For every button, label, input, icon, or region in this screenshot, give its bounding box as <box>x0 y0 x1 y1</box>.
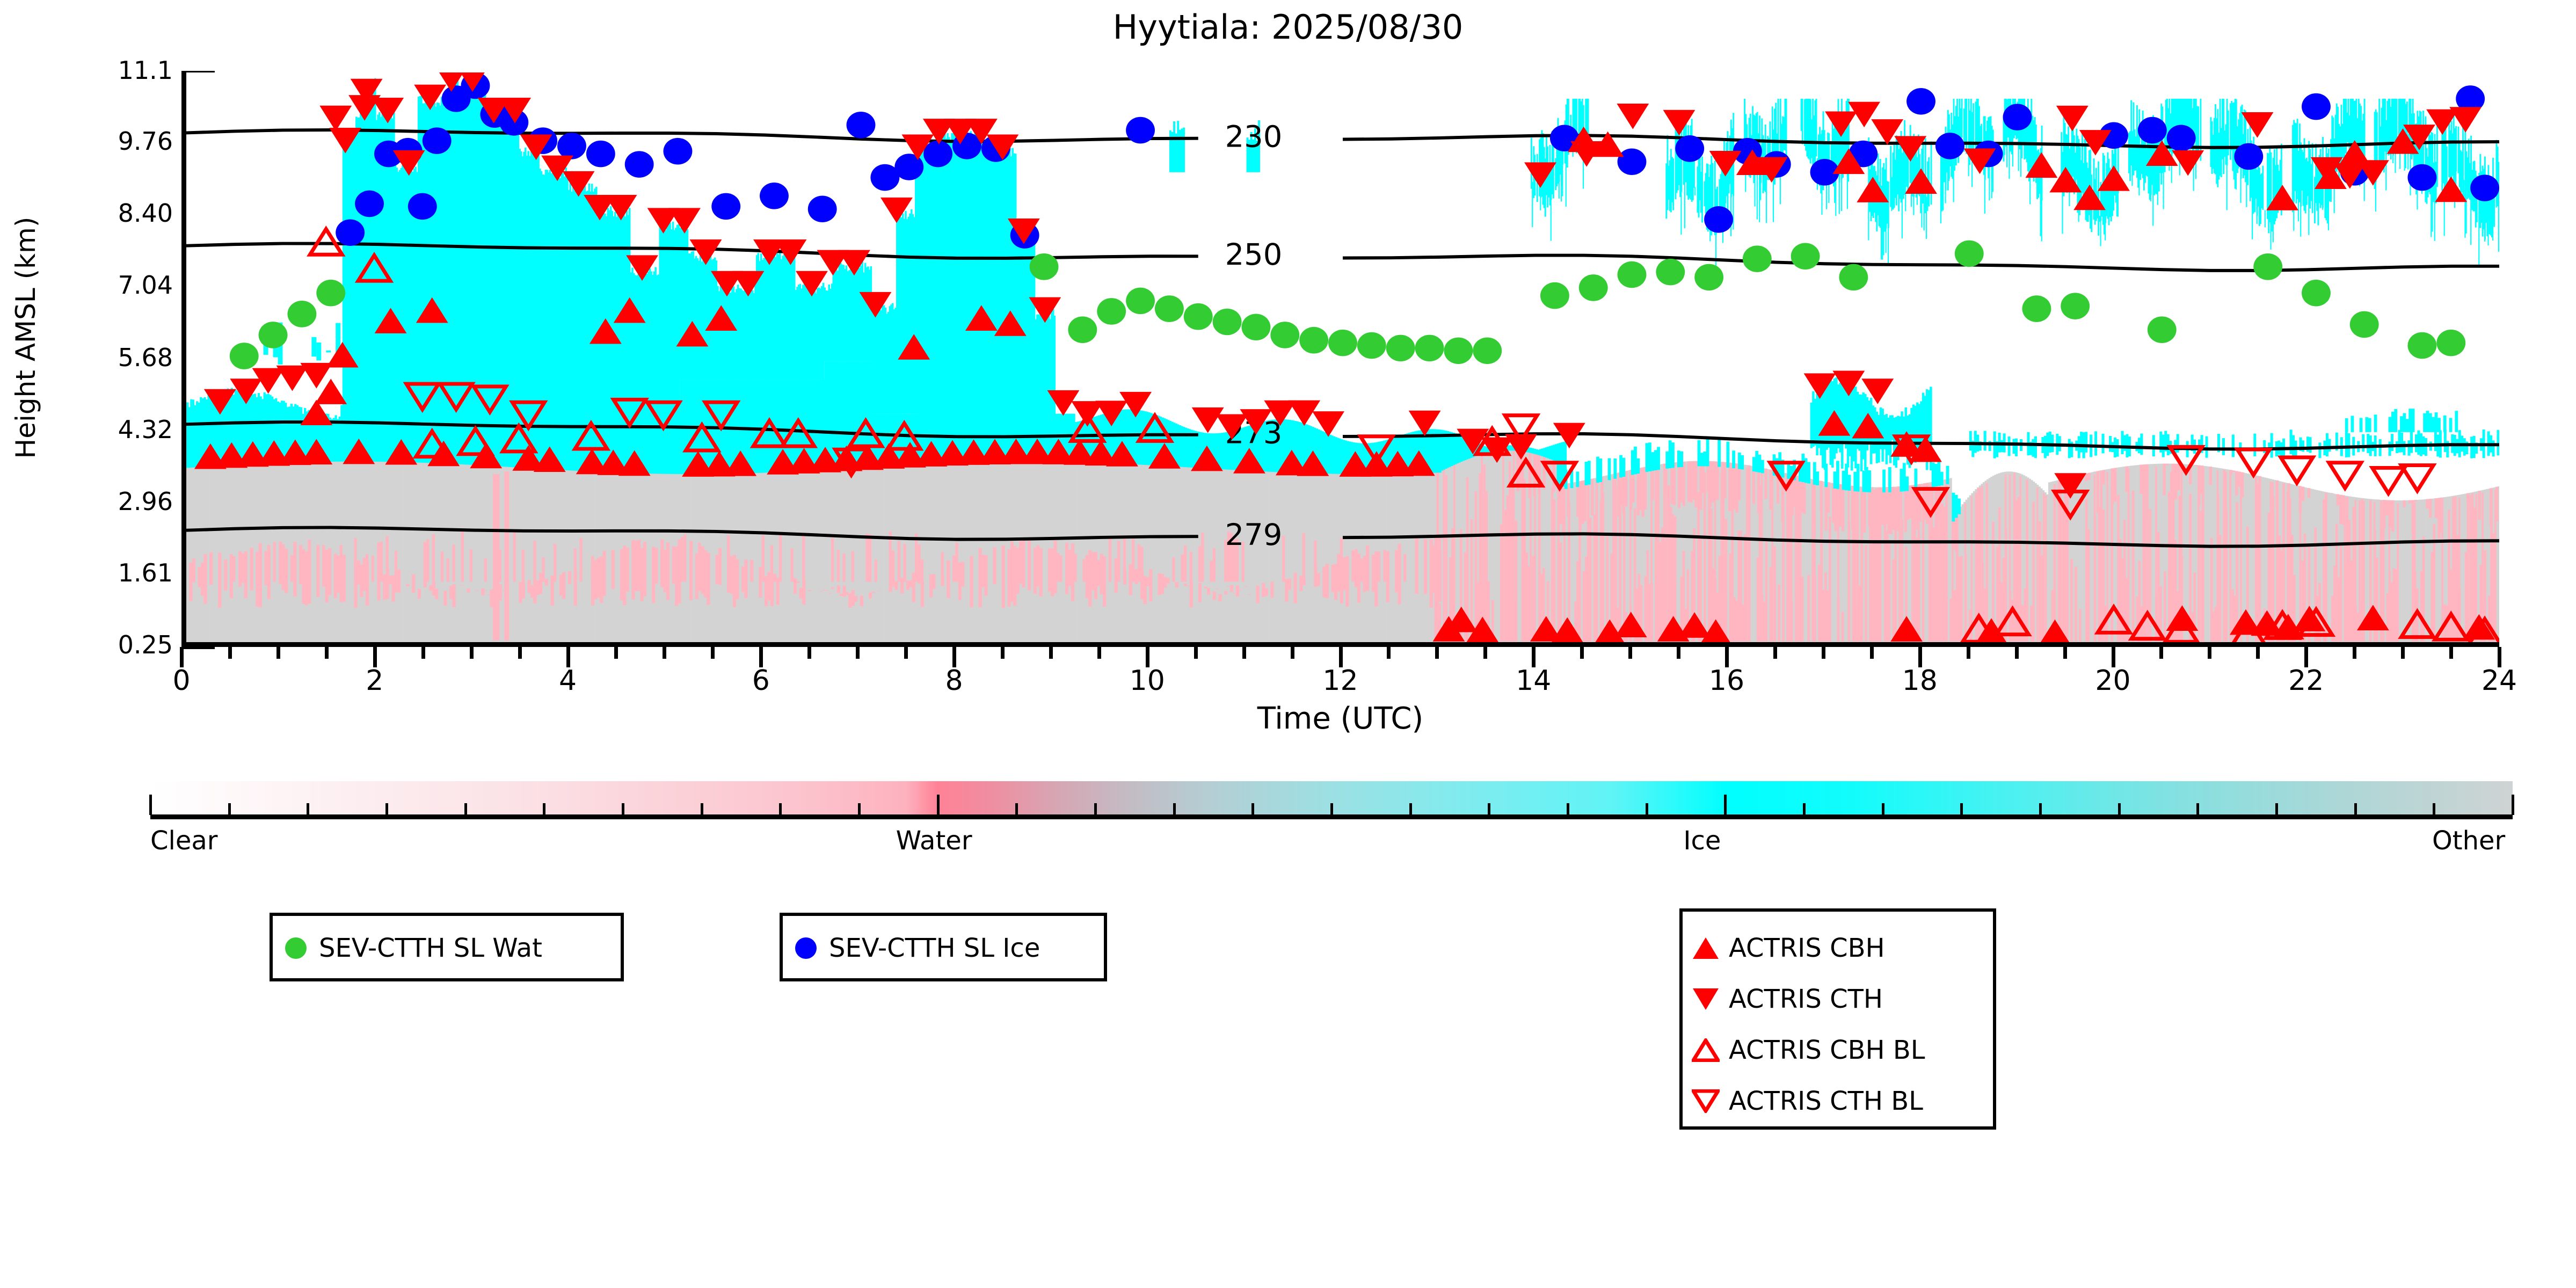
x-tick <box>1387 647 1391 659</box>
data-point-circle <box>2302 280 2331 307</box>
x-tick <box>1580 647 1584 659</box>
x-tick-label: 20 <box>2060 665 2167 697</box>
data-point-circle <box>1656 259 1685 286</box>
colorbar-tick <box>307 803 309 815</box>
data-point-circle <box>557 133 586 159</box>
colorbar-tick <box>701 803 703 815</box>
actris-cth-marker <box>2172 150 2204 176</box>
y-tick-label: 0.25 <box>12 630 173 659</box>
data-point-circle <box>287 301 316 328</box>
data-point-circle <box>1579 274 1608 301</box>
data-point-circle <box>847 112 876 139</box>
colorbar-tick <box>2512 795 2514 815</box>
triangle-down-filled-icon <box>1683 988 1729 1010</box>
legend-label-actris-cth: ACTRIS CTH <box>1729 984 1883 1014</box>
data-point-circle <box>1357 332 1386 359</box>
colorbar-tick <box>1409 803 1412 815</box>
x-tick <box>1677 647 1680 659</box>
data-point-circle <box>2138 117 2167 144</box>
data-point-circle <box>1184 303 1213 330</box>
data-point-circle <box>1791 243 1820 270</box>
legend-label-actris-cth-bl: ACTRIS CTH BL <box>1729 1086 1923 1116</box>
data-point-circle <box>408 193 437 220</box>
colorbar-tick <box>1094 803 1097 815</box>
legend-actris[interactable]: ACTRIS CBH ACTRIS CTH ACTRIS CBH BL ACTR… <box>1679 908 1996 1130</box>
colorbar-label: Water <box>896 826 972 856</box>
colorbar-tick <box>937 795 940 815</box>
colorbar-tick <box>1015 803 1018 815</box>
data-point-circle <box>808 195 837 222</box>
x-tick-label: 0 <box>128 665 235 697</box>
data-point-circle <box>1618 148 1647 175</box>
isotherm-label: 279 <box>1225 518 1283 552</box>
data-point-circle <box>664 138 693 165</box>
colorbar-label: Clear <box>150 826 218 856</box>
data-point-circle <box>1155 295 1184 322</box>
x-tick-label: 12 <box>1287 665 1394 697</box>
x-tick-label: 6 <box>707 665 814 697</box>
data-point-circle <box>355 191 384 217</box>
data-point-circle <box>2470 174 2499 201</box>
x-tick <box>325 647 329 659</box>
data-point-circle <box>336 219 365 246</box>
colorbar-tick <box>1882 803 1884 815</box>
x-tick <box>228 647 232 659</box>
x-tick <box>518 647 522 659</box>
data-point-circle <box>1935 133 1964 159</box>
x-tick-label: 8 <box>900 665 1008 697</box>
colorbar-tick <box>1960 803 1963 815</box>
colorbar-label: Ice <box>1683 826 1721 856</box>
x-tick <box>470 647 474 659</box>
x-tick <box>421 647 425 659</box>
data-point-circle <box>1299 327 1328 354</box>
x-tick <box>276 647 280 659</box>
data-point-circle <box>2167 125 2196 151</box>
x-tick <box>2063 647 2067 659</box>
x-tick-label: 2 <box>321 665 428 697</box>
colorbar-tick <box>2275 803 2278 815</box>
y-tick-label: 1.61 <box>12 558 173 587</box>
data-point-circle <box>2148 316 2177 343</box>
legend-label-actris-cbh-bl: ACTRIS CBH BL <box>1729 1035 1925 1065</box>
colorbar-tick <box>1330 803 1333 815</box>
actris-cth-marker <box>1192 407 1224 433</box>
triangle-down-open-icon <box>1683 1089 1729 1113</box>
data-point-circle <box>711 193 740 220</box>
x-tick-label: 24 <box>2446 665 2553 697</box>
data-point-circle <box>259 322 288 348</box>
x-tick <box>807 647 811 659</box>
actris-cth-marker <box>1825 112 1857 137</box>
colorbar-tick <box>2433 803 2435 815</box>
data-point-circle <box>2234 143 2263 170</box>
data-point-circle <box>2022 295 2051 322</box>
colorbar-tick <box>2354 803 2357 815</box>
data-point-circle <box>1955 241 1984 267</box>
x-tick <box>1097 647 1101 659</box>
data-point-circle <box>1068 316 1097 343</box>
plot-canvas: 230250273279 <box>186 72 2499 642</box>
x-tick <box>1001 647 1005 659</box>
data-point-circle <box>2302 93 2331 120</box>
colorbar-tick <box>2118 803 2121 815</box>
x-tick <box>2159 647 2163 659</box>
data-point-circle <box>1242 314 1271 340</box>
x-tick <box>614 647 618 659</box>
colorbar-tick <box>1251 803 1254 815</box>
chart-root: Hyytiala: 2025/08/30 11.19.768.407.045.6… <box>0 0 2576 1288</box>
page-title: Hyytiala: 2025/08/30 <box>0 8 2576 47</box>
colorbar-tick <box>622 803 624 815</box>
data-point-circle <box>2350 311 2379 338</box>
colorbar-tick <box>1488 803 1490 815</box>
triangle-up-filled-icon <box>1683 937 1729 959</box>
data-point-circle <box>1675 135 1704 162</box>
x-tick <box>856 647 860 659</box>
legend-sev-ctth-ice[interactable]: SEV-CTTH SL Ice <box>780 913 1107 981</box>
x-tick <box>2353 647 2356 659</box>
x-tick <box>1483 647 1487 659</box>
x-tick <box>711 647 715 659</box>
colorbar-tick <box>385 803 388 815</box>
colorbar-label: Other <box>2432 826 2505 856</box>
data-point-circle <box>1444 337 1473 364</box>
data-point-circle <box>2436 330 2465 356</box>
actris-cth-marker <box>319 106 352 132</box>
legend-label-ice: SEV-CTTH SL Ice <box>829 933 1040 963</box>
data-point-circle <box>923 141 952 168</box>
colorbar-tick <box>1567 803 1569 815</box>
x-tick <box>2015 647 2019 659</box>
plot-area: 230250273279 <box>181 72 2499 647</box>
y-tick-label: 11.1 <box>12 56 173 85</box>
data-point-circle <box>586 141 615 168</box>
data-point-circle <box>760 183 789 209</box>
data-point-circle <box>1415 335 1444 362</box>
data-point-circle <box>1473 337 1502 364</box>
data-point-circle <box>1694 264 1723 291</box>
isotherm-label: 250 <box>1225 237 1283 272</box>
data-point-circle <box>2003 104 2032 130</box>
x-tick <box>1628 647 1632 659</box>
data-point-circle <box>1906 88 1935 115</box>
data-point-circle <box>1618 261 1647 288</box>
legend-sev-ctth-water[interactable]: SEV-CTTH SL Wat <box>270 913 624 981</box>
colorbar-axis-line <box>150 814 2513 819</box>
x-axis-title: Time (UTC) <box>181 701 2499 736</box>
actris-cth-bl-marker <box>2281 457 2313 483</box>
data-point-circle <box>1743 245 1772 272</box>
data-point-circle <box>230 343 259 369</box>
data-point-circle <box>2253 253 2282 280</box>
colorbar-tick <box>858 803 861 815</box>
x-tick <box>904 647 908 659</box>
data-point-circle <box>1097 298 1126 325</box>
colorbar-tick <box>149 795 152 815</box>
colorbar-tick <box>2196 803 2199 815</box>
actris-cth-bl-marker <box>2401 465 2433 491</box>
x-tick <box>1194 647 1198 659</box>
x-tick <box>2208 647 2211 659</box>
data-point-circle <box>1270 322 1299 348</box>
legend-label-water: SEV-CTTH SL Wat <box>319 933 542 963</box>
x-tick <box>1870 647 1874 659</box>
data-point-circle <box>1328 330 1357 356</box>
data-point-circle <box>1839 264 1868 291</box>
data-point-circle <box>1213 309 1242 336</box>
data-point-circle <box>1704 206 1733 233</box>
data-point-circle <box>2061 293 2090 319</box>
x-tick-label: 14 <box>1480 665 1587 697</box>
y-axis-title: Height AMSL (km) <box>10 171 41 504</box>
colorbar-tick <box>1803 803 1806 815</box>
data-point-circle <box>423 127 452 154</box>
x-tick <box>663 647 666 659</box>
data-point-circle <box>1540 282 1569 309</box>
colorbar-tick <box>779 803 782 815</box>
x-tick <box>1049 647 1053 659</box>
actris-cth-bl-marker <box>2373 468 2405 493</box>
y-tick-label: 9.76 <box>12 127 173 156</box>
green-circle-icon <box>273 937 319 959</box>
x-tick <box>2449 647 2453 659</box>
colorbar-tick <box>1173 803 1176 815</box>
x-tick <box>1822 647 1825 659</box>
x-tick <box>2401 647 2405 659</box>
actris-cth-marker <box>1709 151 1742 177</box>
isotherm-label: 230 <box>1225 120 1283 155</box>
data-point-circle <box>2407 164 2436 191</box>
x-tick-label: 22 <box>2252 665 2360 697</box>
data-point-circle <box>316 280 345 307</box>
x-tick <box>1773 647 1777 659</box>
actris-cth-marker <box>276 366 309 391</box>
data-point-circle <box>2407 332 2436 359</box>
actris-cth-marker <box>1617 104 1649 129</box>
actris-cth-marker <box>2056 106 2089 132</box>
x-tick <box>1242 647 1246 659</box>
x-tick <box>1291 647 1294 659</box>
x-tick <box>1967 647 1970 659</box>
data-point-circle <box>1126 288 1155 315</box>
x-tick-label: 18 <box>1866 665 1974 697</box>
actris-cth-bl-marker <box>2329 463 2361 489</box>
colorbar-tick <box>464 803 467 815</box>
x-tick <box>2256 647 2260 659</box>
x-tick-label: 10 <box>1094 665 1201 697</box>
data-point-circle <box>1030 253 1059 280</box>
data-point-circle <box>1386 335 1415 362</box>
colorbar-tick <box>543 803 545 815</box>
x-tick-label: 16 <box>1673 665 1780 697</box>
triangle-up-open-icon <box>1683 1038 1729 1062</box>
colorbar-tick <box>228 803 231 815</box>
colorbar-tick <box>1724 795 1727 815</box>
colorbar-tick <box>1646 803 1648 815</box>
legend-label-actris-cbh: ACTRIS CBH <box>1729 933 1885 963</box>
blue-circle-icon <box>783 937 829 959</box>
x-tick-label: 4 <box>514 665 622 697</box>
data-point-circle <box>625 151 654 178</box>
x-tick <box>1435 647 1439 659</box>
data-point-circle <box>1126 117 1155 144</box>
colorbar-tick <box>2039 803 2042 815</box>
